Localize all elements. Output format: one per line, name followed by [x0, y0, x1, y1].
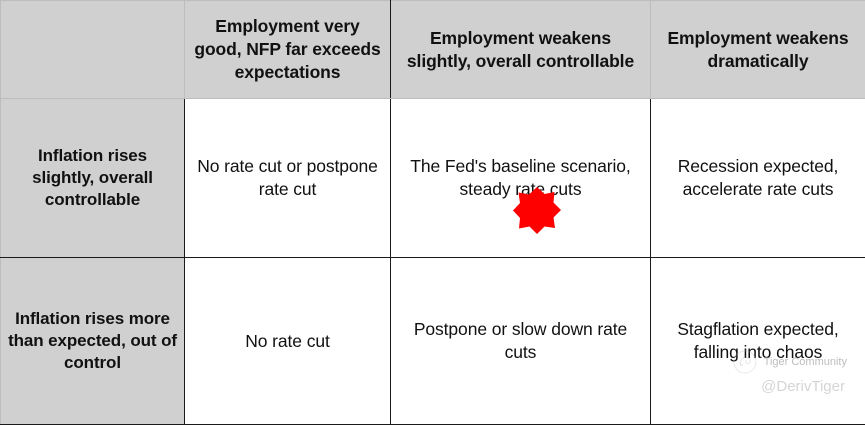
matrix-header-row: Employment very good, NFP far exceeds ex…	[1, 1, 865, 99]
cell-r2c2-postpone-or-slow-down: Postpone or slow down rate cuts	[391, 258, 651, 425]
column-header-employment-weakens-dramatically: Employment weakens dramatically	[651, 1, 865, 99]
matrix-corner-cell	[1, 1, 185, 99]
cell-r2c1-no-rate-cut: No rate cut	[185, 258, 391, 425]
row-header-inflation-rises-slightly: Inflation rises slightly, overall contro…	[1, 99, 185, 258]
matrix-row-inflation-out-of-control: Inflation rises more than expected, out …	[1, 258, 865, 425]
cell-r1c1-no-rate-cut-or-postpone: No rate cut or postpone rate cut	[185, 99, 391, 258]
cell-r1c3-recession-expected: Recession expected, accelerate rate cuts	[651, 99, 865, 258]
cell-r1c2-inner: The Fed's baseline scenario, steady rate…	[397, 101, 644, 255]
matrix-row-inflation-slight: Inflation rises slightly, overall contro…	[1, 99, 865, 258]
scenario-matrix-container: Employment very good, NFP far exceeds ex…	[0, 0, 865, 424]
cell-r1c2-text: The Fed's baseline scenario, steady rate…	[397, 155, 644, 201]
scenario-matrix-table: Employment very good, NFP far exceeds ex…	[0, 0, 865, 425]
row-header-inflation-rises-more-than-expected: Inflation rises more than expected, out …	[1, 258, 185, 425]
column-header-employment-weakens-slightly: Employment weakens slightly, overall con…	[391, 1, 651, 99]
cell-r1c2-fed-baseline-scenario: The Fed's baseline scenario, steady rate…	[391, 99, 651, 258]
cell-r2c3-stagflation-expected: Stagflation expected, falling into chaos	[651, 258, 865, 425]
column-header-employment-very-good: Employment very good, NFP far exceeds ex…	[185, 1, 391, 99]
